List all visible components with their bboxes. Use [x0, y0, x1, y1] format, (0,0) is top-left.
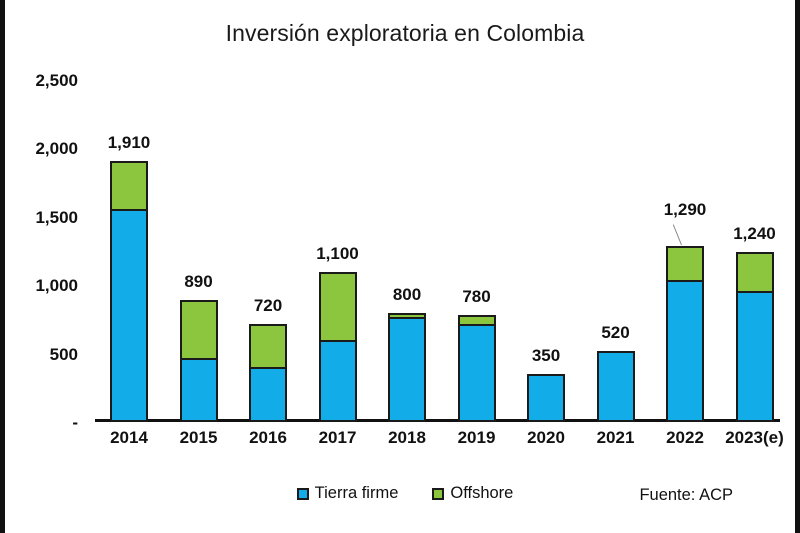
- y-axis-tick-500: 500: [6, 345, 78, 365]
- bar-segment-offshore-2022[interactable]: [666, 246, 704, 282]
- legend-swatch-icon: [432, 488, 444, 500]
- bar-segment-offshore-2017[interactable]: [319, 272, 357, 342]
- bar-group-2015[interactable]: [180, 300, 218, 422]
- legend-swatch-icon: [297, 488, 309, 500]
- bar-group-2018[interactable]: [388, 313, 426, 422]
- bar-segment-tierra-firme-2023(e)[interactable]: [736, 291, 774, 422]
- bar-segment-offshore-2023(e)[interactable]: [736, 252, 774, 292]
- chart-page: Inversión exploratoria en Colombia 2,500…: [0, 0, 800, 533]
- bar-segment-offshore-2014[interactable]: [110, 161, 148, 211]
- bar-segment-offshore-2016[interactable]: [249, 324, 287, 369]
- y-axis-tick-2000: 2,000: [6, 139, 78, 159]
- legend-label: Tierra firme: [315, 484, 399, 503]
- bar-value-label-2017: 1,100: [293, 244, 383, 264]
- bar-group-2020[interactable]: [527, 374, 565, 422]
- bar-value-label-2015: 890: [154, 272, 244, 292]
- source-note: Fuente: ACP: [639, 486, 733, 505]
- bar-group-2021[interactable]: [597, 351, 635, 422]
- bar-group-2023(e)[interactable]: [736, 252, 774, 422]
- bar-group-2017[interactable]: [319, 272, 357, 422]
- bar-group-2022[interactable]: [666, 246, 704, 422]
- x-axis-tick-2023(e): 2023(e): [710, 428, 800, 448]
- y-axis-tick-0: -: [6, 413, 78, 433]
- bar-segment-offshore-2019[interactable]: [458, 315, 496, 325]
- bar-group-2016[interactable]: [249, 324, 287, 422]
- bar-segment-tierra-firme-2022[interactable]: [666, 280, 704, 422]
- bar-value-label-2022: 1,290: [640, 200, 730, 220]
- bar-value-label-2014: 1,910: [84, 133, 174, 153]
- bar-value-label-2020: 350: [501, 346, 591, 366]
- legend-item-tierra-firme[interactable]: Tierra firme: [297, 484, 399, 503]
- bar-segment-tierra-firme-2019[interactable]: [458, 324, 496, 422]
- bar-segment-tierra-firme-2015[interactable]: [180, 358, 218, 422]
- bar-segment-tierra-firme-2017[interactable]: [319, 340, 357, 422]
- bar-segment-tierra-firme-2021[interactable]: [597, 351, 635, 422]
- chart-title: Inversión exploratoria en Colombia: [5, 20, 800, 47]
- bar-group-2014[interactable]: [110, 161, 148, 422]
- bar-value-label-2021: 520: [571, 323, 661, 343]
- bar-value-label-2023(e): 1,240: [710, 224, 800, 244]
- y-axis-tick-1500: 1,500: [6, 208, 78, 228]
- plot-area: 2,5002,0001,5001,000500- 1,9108907201,10…: [95, 80, 780, 422]
- bar-segment-tierra-firme-2014[interactable]: [110, 209, 148, 422]
- bar-segment-tierra-firme-2016[interactable]: [249, 367, 287, 422]
- bar-value-label-2016: 720: [223, 296, 313, 316]
- bar-value-label-2019: 780: [432, 287, 522, 307]
- bar-segment-offshore-2018[interactable]: [388, 313, 426, 319]
- y-axis-tick-2500: 2,500: [6, 71, 78, 91]
- bar-segment-tierra-firme-2018[interactable]: [388, 317, 426, 422]
- bar-segment-tierra-firme-2020[interactable]: [527, 374, 565, 422]
- bar-group-2019[interactable]: [458, 315, 496, 422]
- y-axis-tick-1000: 1,000: [6, 276, 78, 296]
- leader-line-2022: [673, 224, 682, 245]
- legend-item-offshore[interactable]: Offshore: [432, 484, 513, 503]
- bar-segment-offshore-2015[interactable]: [180, 300, 218, 359]
- legend-label: Offshore: [450, 484, 513, 503]
